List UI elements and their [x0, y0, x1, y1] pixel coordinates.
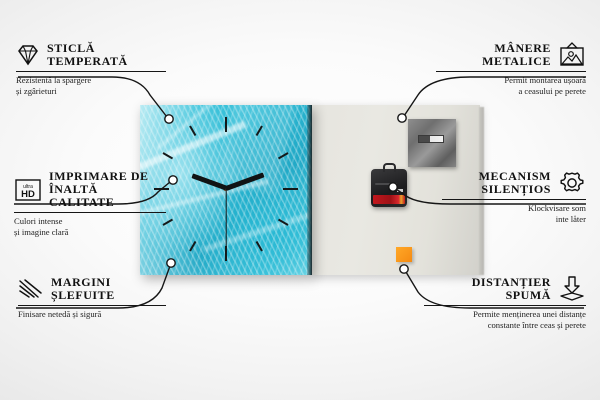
movement-hanging-loop — [383, 163, 396, 172]
callout-header: STICLĂ TEMPERATĂ — [16, 42, 166, 68]
ultra-hd-icon-large-label: HD — [21, 189, 35, 200]
clock-hour-hand — [225, 173, 264, 191]
callout-high-quality-print: ultra HD IMPRIMARE DE ÎNALTĂ CALITATE Cu… — [14, 170, 166, 237]
callout-foam-spacer: DISTANȚIER SPUMĂ Permite menținerea unei… — [424, 276, 586, 330]
foam-spacer-pad — [396, 247, 412, 262]
clock-tick — [255, 126, 262, 137]
press-pad-icon — [558, 276, 586, 302]
callout-header: ultra HD IMPRIMARE DE ÎNALTĂ CALITATE — [14, 170, 166, 209]
gear-icon — [558, 170, 586, 196]
callout-polished-edges: MARGINI ȘLEFUITE Finisare netedă și sigu… — [18, 276, 166, 320]
product-image — [140, 105, 480, 275]
callout-header: MÂNERE METALICE — [436, 42, 586, 68]
callout-subtitle-line-2: și zgârieturi — [16, 86, 166, 97]
diamond-icon — [16, 44, 40, 66]
clock-tick — [255, 241, 262, 252]
callout-title-line-2: SILENȚIOS — [479, 183, 551, 196]
callout-rule — [16, 71, 166, 72]
callout-rule — [436, 71, 586, 72]
clock-tick — [278, 218, 289, 225]
clock-tick — [189, 241, 196, 252]
clock-tick — [163, 152, 174, 159]
callout-header: DISTANȚIER SPUMĂ — [424, 276, 586, 302]
hanger-slot — [418, 135, 444, 143]
callout-subtitle-line-2: inte låter — [442, 214, 586, 225]
clock-movement — [371, 169, 407, 207]
callout-subtitle-line-2: a ceasului pe perete — [436, 86, 586, 97]
callout-title-line-2: SPUMĂ — [472, 289, 551, 302]
callout-title-line-2: METALICE — [482, 55, 551, 68]
callout-subtitle-line-1: Klockvisare som — [442, 203, 586, 214]
clock-minute-hand — [191, 174, 226, 191]
movement-detail-line — [375, 183, 397, 185]
callout-subtitle-line-2: constante între ceas și perete — [424, 320, 586, 331]
clock-tick — [225, 246, 227, 261]
clock-tick — [278, 152, 289, 159]
clock-tick — [283, 188, 298, 190]
clock-tick — [189, 126, 196, 137]
callout-subtitle-line-1: Permite menținerea unei distanțe — [424, 309, 586, 320]
clock-second-hand — [225, 188, 226, 246]
battery — [373, 195, 405, 204]
callout-rule — [18, 305, 166, 306]
callout-subtitle-line-1: Finisare netedă și sigură — [18, 309, 166, 320]
infographic-stage: STICLĂ TEMPERATĂ Rezistentă la spargere … — [0, 0, 600, 400]
diagonal-lines-icon — [18, 278, 44, 300]
picture-hanger-icon — [558, 42, 586, 68]
callout-header: MECANISM SILENȚIOS — [442, 170, 586, 196]
callout-metal-handles: MÂNERE METALICE Permit montarea ușoară a… — [436, 42, 586, 96]
callout-subtitle-line-1: Permit montarea ușoară — [436, 75, 586, 86]
movement-detail-dot — [397, 189, 403, 192]
callout-subtitle-line-1: Culori intense — [14, 216, 166, 227]
clock-tick — [225, 117, 227, 132]
callout-rule — [424, 305, 586, 306]
callout-silent-mechanism: MECANISM SILENȚIOS Klockvisare som inte … — [442, 170, 586, 224]
callout-title-line-2: TEMPERATĂ — [47, 55, 128, 68]
callout-rule — [442, 199, 586, 200]
callout-title-line-2: ȘLEFUITE — [51, 289, 115, 302]
callout-subtitle-line-2: și imagine clară — [14, 227, 166, 238]
callout-rule — [14, 212, 166, 213]
callout-header: MARGINI ȘLEFUITE — [18, 276, 166, 302]
callout-title-line-2: ÎNALTĂ CALITATE — [49, 183, 166, 209]
callout-subtitle-line-1: Rezistentă la spargere — [16, 75, 166, 86]
callout-tempered-glass: STICLĂ TEMPERATĂ Rezistentă la spargere … — [16, 42, 166, 96]
ultra-hd-icon: ultra HD — [14, 178, 42, 202]
metal-hanger-plate — [408, 119, 456, 167]
